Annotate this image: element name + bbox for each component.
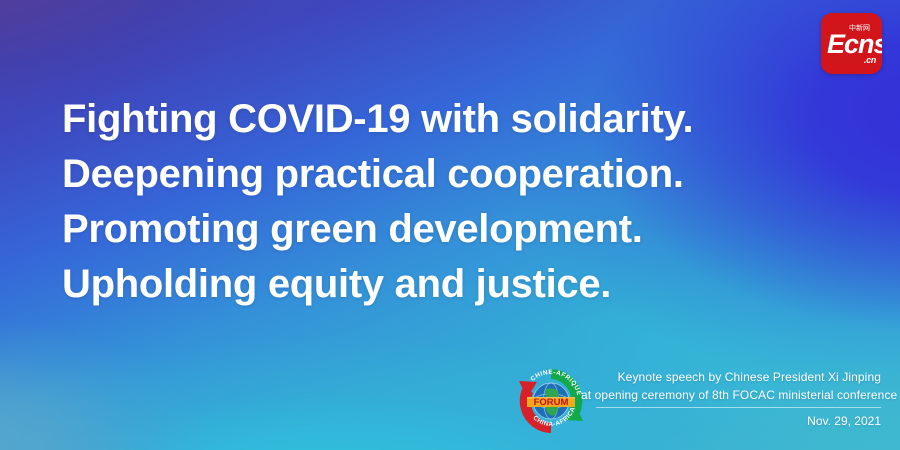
headline-line-2: Deepening practical cooperation.: [62, 147, 702, 202]
headline-block: Fighting COVID-19 with solidarity. Deepe…: [62, 92, 702, 312]
ecns-domain-suffix: .cn: [864, 55, 876, 65]
poster-canvas: 中新网 Ecns .cn Fighting COVID-19 with soli…: [0, 0, 900, 450]
headline-line-1: Fighting COVID-19 with solidarity.: [62, 92, 702, 147]
headline-line-4: Upholding equity and justice.: [62, 257, 702, 312]
caption-separator: [596, 407, 881, 408]
ecns-logo[interactable]: 中新网 Ecns .cn: [821, 13, 882, 74]
focac-emblem: FORUM CHINE-AFRIQUE CHINA-AFRICA: [513, 363, 589, 439]
emblem-banner-text: FORUM: [534, 397, 569, 408]
headline-line-3: Promoting green development.: [62, 202, 702, 257]
caption-date: Nov. 29, 2021: [581, 412, 881, 430]
caption-block: Keynote speech by Chinese President Xi J…: [581, 368, 881, 430]
caption-line-1: Keynote speech by Chinese President Xi J…: [581, 368, 881, 386]
caption-line-2: at opening ceremony of 8th FOCAC ministe…: [581, 386, 881, 404]
